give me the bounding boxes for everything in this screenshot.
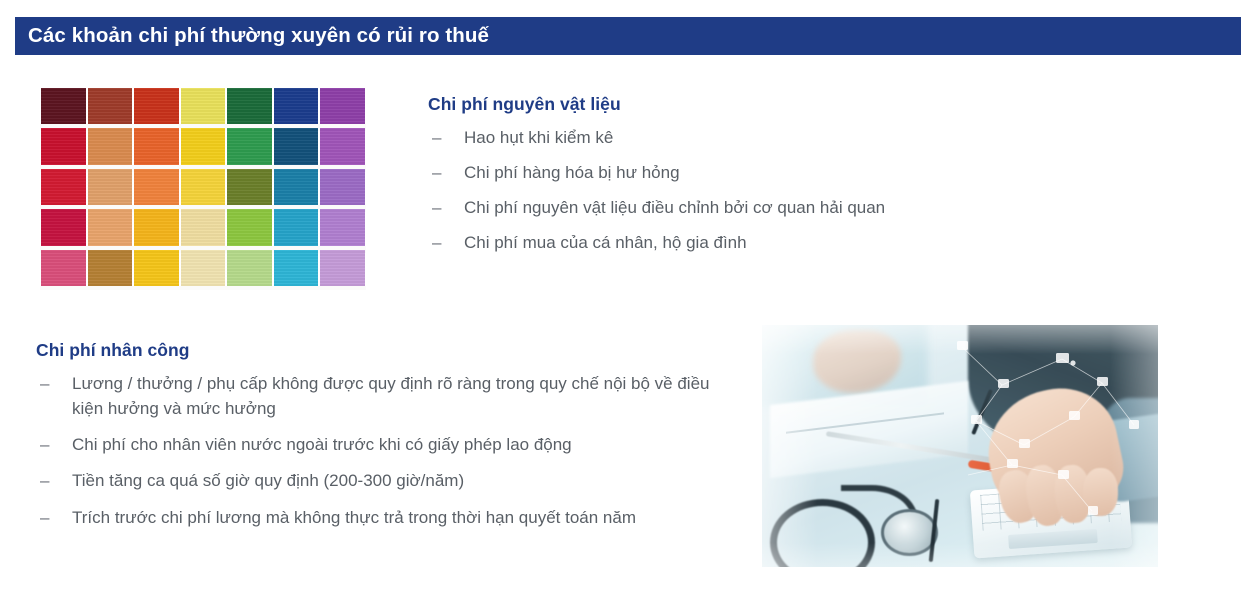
materials-heading: Chi phí nguyên vật liệu: [428, 94, 1068, 116]
spool: [320, 250, 365, 290]
spool: [181, 250, 226, 290]
list-item-label: Chi phí mua của cá nhân, hộ gia đình: [464, 233, 747, 252]
spool: [88, 128, 133, 168]
list-item: – Chi phí mua của cá nhân, hộ gia đình: [428, 230, 1068, 255]
spool: [274, 128, 319, 168]
spool: [88, 88, 133, 128]
bullet-dash-icon: –: [40, 432, 49, 457]
office-calculator-photo: [762, 325, 1158, 567]
spool: [274, 169, 319, 209]
spool: [41, 88, 86, 128]
page-title: Các khoản chi phí thường xuyên có rủi ro…: [28, 26, 489, 47]
spool: [134, 209, 179, 249]
spool: [41, 209, 86, 249]
spool: [134, 88, 179, 128]
spool: [227, 209, 272, 249]
labor-heading: Chi phí nhân công: [36, 340, 716, 362]
spool: [274, 209, 319, 249]
list-item-label: Chi phí hàng hóa bị hư hỏng: [464, 163, 680, 182]
photo-edge-fade: [762, 325, 1158, 567]
list-item: – Tiền tăng ca quá số giờ quy định (200-…: [36, 468, 716, 493]
list-item: – Trích trước chi phí lương mà không thự…: [36, 505, 716, 530]
spool: [227, 169, 272, 209]
spool: [134, 169, 179, 209]
labor-text-block: Chi phí nhân công – Lương / thưởng / phụ…: [36, 340, 716, 541]
spool: [227, 88, 272, 128]
list-item-label: Tiền tăng ca quá số giờ quy định (200-30…: [72, 471, 464, 490]
bullet-dash-icon: –: [432, 230, 441, 255]
spool: [134, 128, 179, 168]
spool-column-green: [226, 88, 273, 290]
thread-spools-photo: [40, 88, 366, 290]
spool: [41, 250, 86, 290]
spool: [227, 250, 272, 290]
list-item: – Chi phí hàng hóa bị hư hỏng: [428, 160, 1068, 185]
spool-column-blue-teal: [273, 88, 320, 290]
spool: [181, 128, 226, 168]
list-item-label: Lương / thưởng / phụ cấp không được quy …: [72, 374, 710, 418]
spool: [274, 250, 319, 290]
list-item-label: Hao hụt khi kiểm kê: [464, 128, 613, 147]
spool: [274, 88, 319, 128]
spool: [88, 169, 133, 209]
bullet-dash-icon: –: [40, 371, 49, 396]
spool: [181, 209, 226, 249]
spool: [320, 209, 365, 249]
materials-bullet-list: – Hao hụt khi kiểm kê – Chi phí hàng hóa…: [428, 125, 1068, 256]
list-item-label: Trích trước chi phí lương mà không thực …: [72, 508, 636, 527]
spool: [88, 209, 133, 249]
spool: [320, 88, 365, 128]
bullet-dash-icon: –: [40, 468, 49, 493]
list-item: – Chi phí cho nhân viên nước ngoài trước…: [36, 432, 716, 457]
bullet-dash-icon: –: [432, 125, 441, 150]
spool-column-brown-orange: [87, 88, 134, 290]
list-item-label: Chi phí nguyên vật liệu điều chỉnh bởi c…: [464, 198, 885, 217]
spool-column-purple: [319, 88, 366, 290]
section-materials: Chi phí nguyên vật liệu – Hao hụt khi ki…: [0, 88, 1255, 298]
spool: [134, 250, 179, 290]
spool: [227, 128, 272, 168]
spool-column-yellow: [180, 88, 227, 290]
list-item-label: Chi phí cho nhân viên nước ngoài trước k…: [72, 435, 572, 454]
slide-title-bar: Các khoản chi phí thường xuyên có rủi ro…: [15, 17, 1241, 55]
spool: [320, 128, 365, 168]
labor-bullet-list: – Lương / thưởng / phụ cấp không được qu…: [36, 371, 716, 530]
spool-column-red: [40, 88, 87, 290]
list-item: – Chi phí nguyên vật liệu điều chỉnh bởi…: [428, 195, 1068, 220]
spool: [88, 250, 133, 290]
materials-text-block: Chi phí nguyên vật liệu – Hao hụt khi ki…: [428, 94, 1068, 266]
spool-column-orange-yellow: [133, 88, 180, 290]
bullet-dash-icon: –: [432, 195, 441, 220]
list-item: – Lương / thưởng / phụ cấp không được qu…: [36, 371, 716, 421]
spool: [181, 88, 226, 128]
bullet-dash-icon: –: [432, 160, 441, 185]
spool: [320, 169, 365, 209]
list-item: – Hao hụt khi kiểm kê: [428, 125, 1068, 150]
spool: [41, 128, 86, 168]
spool: [181, 169, 226, 209]
spool: [41, 169, 86, 209]
bullet-dash-icon: –: [40, 505, 49, 530]
